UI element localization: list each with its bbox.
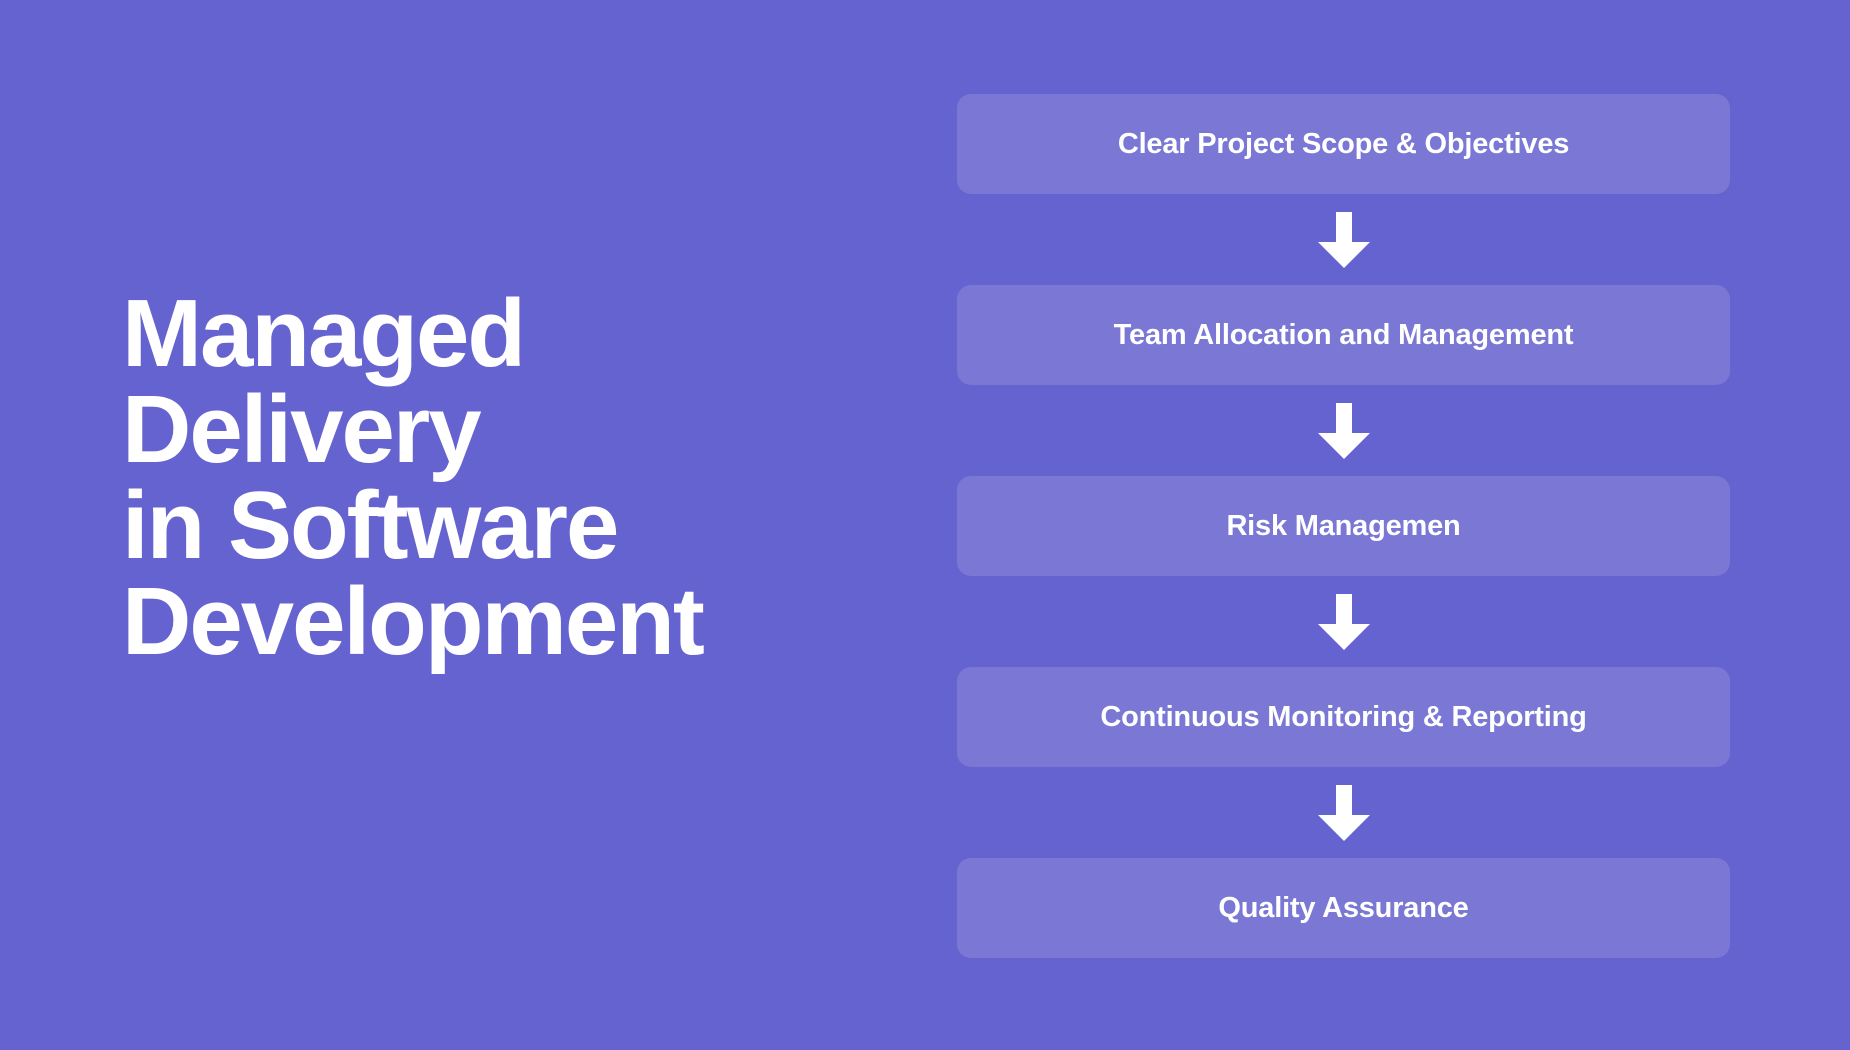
flow-step-label: Quality Assurance	[1218, 894, 1468, 923]
arrow-down-icon	[1318, 594, 1370, 650]
headline-line-1: Managed	[122, 286, 882, 382]
process-flow-diagram: Clear Project Scope & Objectives Team Al…	[957, 94, 1730, 955]
headline-line-4: Development	[122, 574, 882, 670]
flow-step-label: Continuous Monitoring & Reporting	[1100, 703, 1586, 732]
flow-step-label: Clear Project Scope & Objectives	[1118, 130, 1569, 159]
slide-canvas: Managed Delivery in Software Development…	[0, 0, 1850, 1050]
flow-connector-4	[957, 767, 1730, 858]
headline-line-2: Delivery	[122, 382, 882, 478]
flow-step-4[interactable]: Continuous Monitoring & Reporting	[957, 667, 1730, 767]
flow-step-1[interactable]: Clear Project Scope & Objectives	[957, 94, 1730, 194]
arrow-down-icon	[1318, 403, 1370, 459]
headline-line-3: in Software	[122, 478, 882, 574]
flow-connector-2	[957, 385, 1730, 476]
flow-step-label: Risk Managemen	[1226, 512, 1460, 541]
flow-step-label: Team Allocation and Management	[1114, 321, 1574, 350]
arrow-down-icon	[1318, 212, 1370, 268]
flow-step-3[interactable]: Risk Managemen	[957, 476, 1730, 576]
flow-step-5[interactable]: Quality Assurance	[957, 858, 1730, 958]
arrow-down-icon	[1318, 785, 1370, 841]
flow-connector-1	[957, 194, 1730, 285]
page-title: Managed Delivery in Software Development	[122, 286, 882, 670]
flow-connector-3	[957, 576, 1730, 667]
flow-step-2[interactable]: Team Allocation and Management	[957, 285, 1730, 385]
